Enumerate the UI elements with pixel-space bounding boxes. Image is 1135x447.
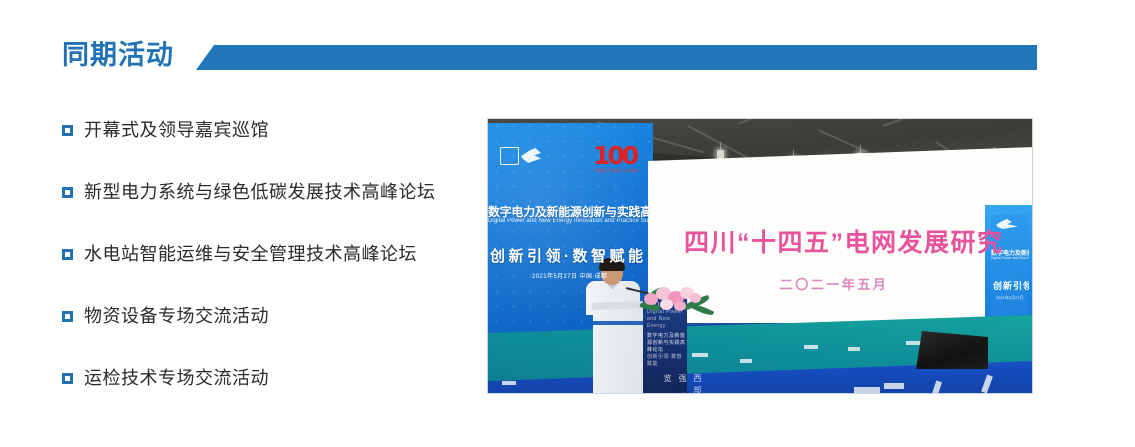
stage-monitor-speaker xyxy=(916,331,988,369)
backdrop-banner-subtitle: Digital Power and New Energy Innovation … xyxy=(488,218,650,224)
list-item-label: 运检技术专场交流活动 xyxy=(84,366,269,390)
floor-marking xyxy=(692,353,708,357)
list-item[interactable]: 运检技术专场交流活动 xyxy=(62,366,462,428)
list-item[interactable]: 物资设备专场交流活动 xyxy=(62,304,462,366)
cpc-centennial-emblem: 100 中国共产党成立100周年 xyxy=(593,141,650,183)
square-bullet-icon xyxy=(62,373,73,384)
backdrop-banner-slogan: 创新引领·数智赋能 xyxy=(490,245,650,266)
ceiling-lamp-icon xyxy=(717,150,724,159)
conference-photo: 2021年5月27日 Digital Power and New Energy … xyxy=(487,118,1033,394)
podium-text-line4: 创新引领·数智赋能 xyxy=(647,354,687,368)
square-bullet-icon xyxy=(62,125,73,136)
floor-marking xyxy=(740,359,752,363)
floor-marking xyxy=(848,347,860,351)
activity-list: 开幕式及领导嘉宾巡馆 新型电力系统与绿色低碳发展技术高峰论坛 水电站智能运维与安… xyxy=(62,118,462,428)
floor-marking xyxy=(502,381,516,385)
side-banner-date: 2021年5月27日 xyxy=(996,295,1024,301)
cpc-emblem-number: 100 xyxy=(593,141,636,170)
header-accent-bar xyxy=(196,45,1037,70)
leaf xyxy=(692,303,715,317)
section-header: 同期活动 xyxy=(0,38,1135,80)
flower-petal xyxy=(690,293,701,303)
flower-petal xyxy=(674,301,686,311)
logo-divider xyxy=(518,147,519,163)
floor-marking xyxy=(854,387,880,393)
square-bullet-icon xyxy=(62,311,73,322)
floor-marking xyxy=(804,345,818,349)
square-bullet-icon xyxy=(62,187,73,198)
page-title: 同期活动 xyxy=(62,38,174,72)
side-banner-slogan: 创新引领 xyxy=(993,279,1029,292)
floor-marking xyxy=(884,383,904,389)
square-bullet-icon xyxy=(62,249,73,260)
slide-subtitle: 二〇二一年五月 xyxy=(684,274,984,293)
list-item-label: 水电站智能运维与安全管理技术高峰论坛 xyxy=(84,242,417,266)
list-item[interactable]: 水电站智能运维与安全管理技术高峰论坛 xyxy=(62,242,462,304)
flower-petal xyxy=(660,299,673,310)
podium-vertical-text: 西部国际 强 成 展 览 xyxy=(660,374,705,394)
list-item[interactable]: 开幕式及领导嘉宾巡馆 xyxy=(62,118,462,180)
list-item-label: 开幕式及领导嘉宾巡馆 xyxy=(84,118,269,142)
podium-text-line3: 数字电力及新能源创新与实践高峰论坛 xyxy=(647,333,687,354)
floor-marking xyxy=(906,341,922,345)
cpc-emblem-caption: 中国共产党成立100周年 xyxy=(594,168,650,173)
backdrop-banner-date: 2021年5月27日 中国·成都 xyxy=(532,271,607,280)
list-item[interactable]: 新型电力系统与绿色低碳发展技术高峰论坛 xyxy=(62,180,462,242)
list-item-label: 新型电力系统与绿色低碳发展技术高峰论坛 xyxy=(84,180,436,204)
slide-title: 四川“十四五”电网发展研究 xyxy=(684,223,984,259)
list-item-label: 物资设备专场交流活动 xyxy=(84,304,269,328)
exhibition-logo-icon xyxy=(500,147,519,165)
